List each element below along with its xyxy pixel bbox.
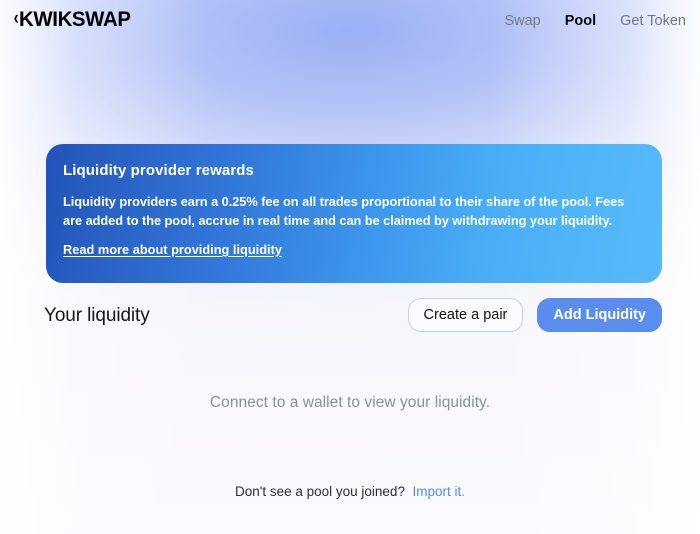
main-navigation: Swap Pool Get Token xyxy=(504,13,686,29)
brand-logo[interactable]: ‹ KWIKSWAP xyxy=(13,9,136,31)
page-title: Your liquidity xyxy=(44,305,150,327)
add-liquidity-button[interactable]: Add Liquidity xyxy=(537,298,662,332)
import-it-link[interactable]: Import it. xyxy=(412,484,465,499)
card-body-text: Liquidity providers earn a 0.25% fee on … xyxy=(63,192,638,230)
app-header: ‹ KWIKSWAP Swap Pool Get Token xyxy=(0,0,700,46)
your-liquidity-header-row: Your liquidity Create a pair Add Liquidi… xyxy=(44,298,662,338)
nav-item-pool[interactable]: Pool xyxy=(565,13,596,29)
liquidity-action-buttons: Create a pair Add Liquidity xyxy=(408,298,662,332)
import-pool-question: Don't see a pool you joined? xyxy=(235,484,405,499)
liquidity-provider-rewards-card: Liquidity provider rewards Liquidity pro… xyxy=(46,144,662,283)
empty-state-message: Connect to a wallet to view your liquidi… xyxy=(0,394,700,412)
card-title: Liquidity provider rewards xyxy=(63,162,638,179)
read-more-link[interactable]: Read more about providing liquidity xyxy=(63,242,282,257)
nav-item-swap[interactable]: Swap xyxy=(504,13,540,29)
app-root: ‹ KWIKSWAP Swap Pool Get Token Liquidity… xyxy=(0,0,700,534)
create-pair-button[interactable]: Create a pair xyxy=(408,298,524,332)
import-pool-note: Don't see a pool you joined? Import it. xyxy=(0,484,700,499)
nav-item-get-token[interactable]: Get Token xyxy=(620,13,686,29)
double-chevron-left-icon: ‹ xyxy=(14,9,19,28)
brand-logo-text: KWIKSWAP xyxy=(19,9,131,31)
